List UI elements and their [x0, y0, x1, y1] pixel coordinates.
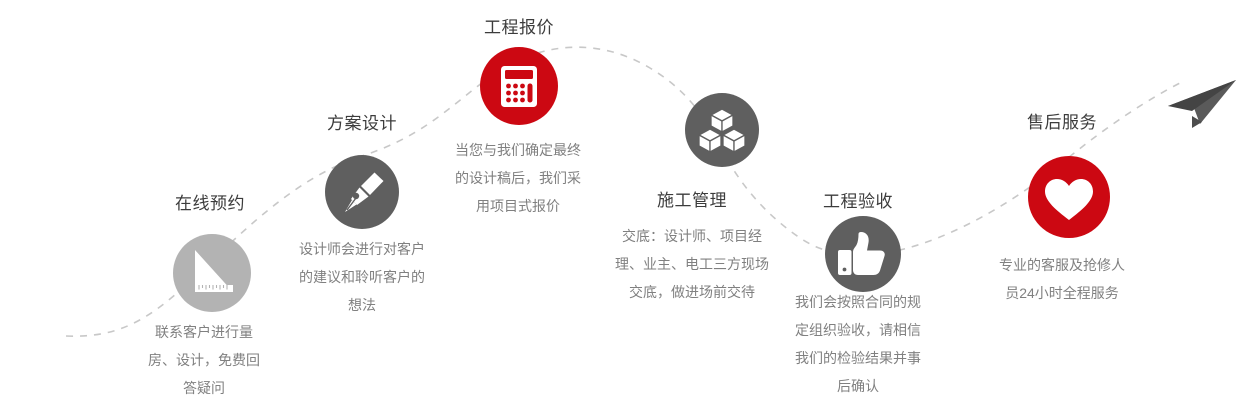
ruler-triangle-icon	[173, 234, 251, 312]
step-description-1: 联系客户进行量房、设计，免费回答疑问	[143, 318, 265, 402]
step-title-5: 工程验收	[823, 192, 893, 212]
step-description-4: 交底：设计师、项目经理、业主、电工三方现场交底，做进场前交待	[609, 222, 775, 306]
paper-plane-icon	[1152, 78, 1238, 140]
step-title-1: 在线预约	[175, 194, 245, 214]
heart-icon	[1028, 156, 1110, 238]
thumbs-up-icon	[825, 216, 901, 292]
step-title-4: 施工管理	[657, 191, 727, 211]
step-description-2: 设计师会进行对客户的建议和聆听客户的想法	[295, 235, 429, 319]
pen-nib-icon	[325, 155, 399, 229]
calculator-icon	[480, 47, 558, 125]
step-title-6: 售后服务	[1027, 113, 1097, 133]
step-title-2: 方案设计	[327, 114, 397, 134]
cubes-icon	[685, 93, 759, 167]
step-title-3: 工程报价	[484, 18, 554, 38]
step-description-6: 专业的客服及抢修人员24小时全程服务	[995, 251, 1129, 307]
process-flow-diagram: 在线预约 联	[0, 0, 1245, 402]
step-description-3: 当您与我们确定最终的设计稿后，我们采用项目式报价	[452, 136, 584, 220]
step-description-5: 我们会按照合同的规定组织验收，请相信我们的检验结果并事后确认	[791, 288, 925, 400]
